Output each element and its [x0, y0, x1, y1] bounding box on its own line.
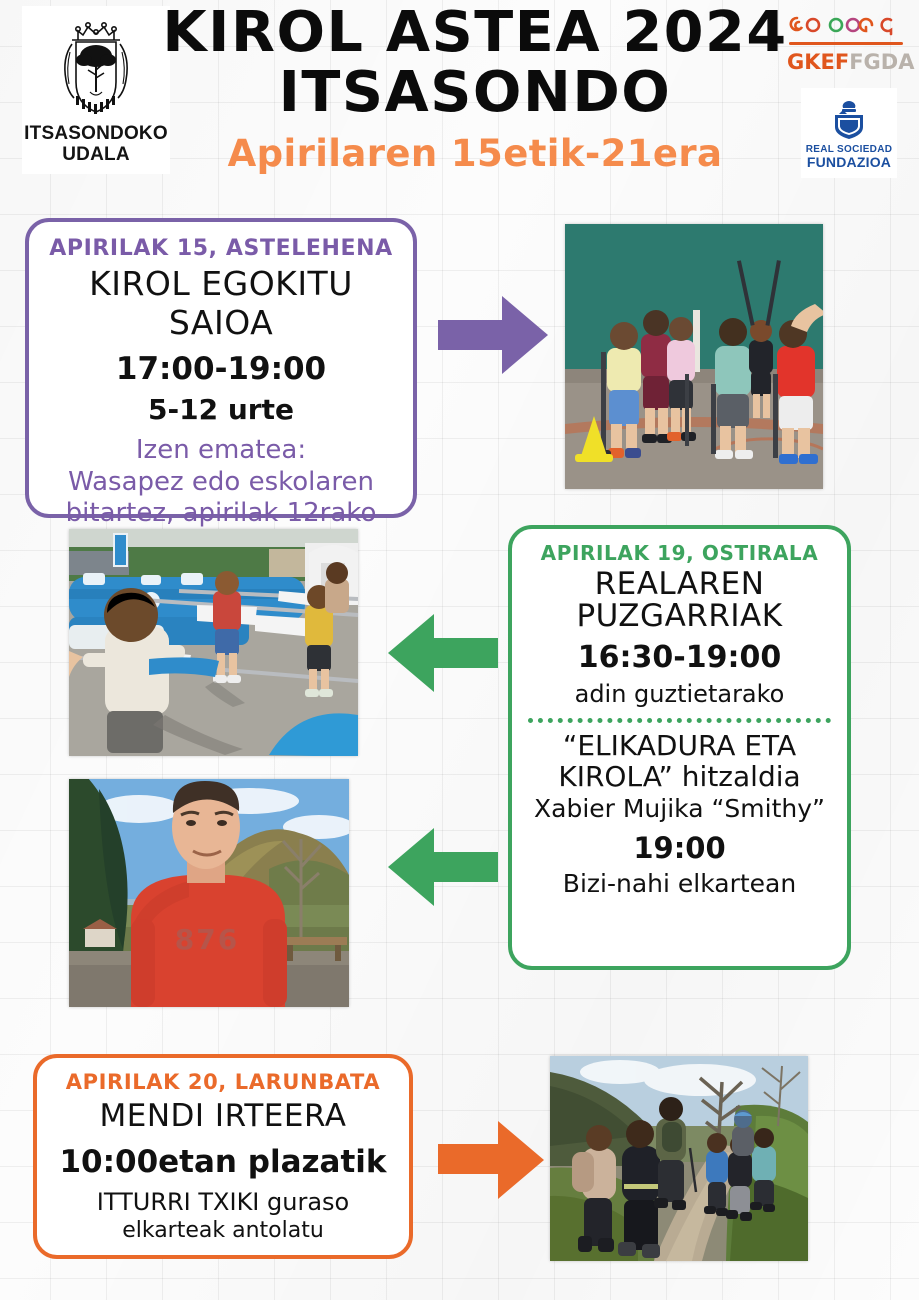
card-friday-divider — [528, 718, 831, 723]
gkef-word-basque: GKEF — [787, 50, 849, 74]
rsf-line2: FUNDAZIOA — [807, 155, 891, 169]
card-saturday-organizer-line1: ITTURRI TXIKI guraso — [47, 1188, 399, 1216]
card-saturday-time: 10:00etan plazatik — [47, 1144, 399, 1180]
page-subtitle: Apirilaren 15etik-21era — [165, 132, 785, 175]
gkef-divider — [789, 42, 903, 45]
card-friday-talk-line1: “ELIKADURA ETA — [522, 731, 837, 761]
real-sociedad-crest-icon — [826, 97, 872, 143]
card-monday-note-line3: bitartez, apirilak 12rako — [41, 498, 401, 530]
card-friday-talk-time: 19:00 — [522, 831, 837, 865]
photo-inflatables — [69, 529, 358, 756]
arrow-friday-inflatables — [385, 608, 500, 698]
card-saturday-day-label: APIRILAK 20, LARUNBATA — [47, 1070, 399, 1094]
crest-label-line1: ITSASONDOKO — [24, 124, 168, 145]
card-monday-activity: KIROL EGOKITU SAIOA — [41, 264, 401, 342]
event-card-monday: APIRILAK 15, ASTELEHENA KIROL EGOKITU SA… — [25, 218, 417, 518]
card-monday-day-label: APIRILAK 15, ASTELEHENA — [41, 236, 401, 261]
card-monday-ages: 5-12 urte — [41, 393, 401, 426]
card-saturday-organizer-line2: elkarteak antolatu — [47, 1218, 399, 1243]
page-title-line1: KIROL ASTEA 2024 — [159, 6, 791, 60]
card-monday-note-line2: Wasapez edo eskolaren — [41, 467, 401, 499]
page-title-line2: ITSASONDO — [159, 66, 791, 120]
arrow-monday — [436, 290, 551, 380]
photo-mountain-walk — [550, 1056, 808, 1261]
gkef-word-spanish: FGDA — [849, 50, 914, 74]
card-friday-activity-line2: PUZGARRIAK — [522, 600, 837, 632]
coat-of-arms-icon — [46, 12, 146, 124]
arrow-saturday — [436, 1116, 546, 1204]
svg-text:876: 876 — [175, 923, 239, 956]
event-card-saturday: APIRILAK 20, LARUNBATA MENDI IRTEERA 10:… — [33, 1054, 413, 1259]
real-sociedad-fundazioa-logo: REAL SOCIEDAD FUNDAZIOA — [801, 88, 897, 178]
photo-adapted-sport — [565, 224, 823, 489]
crest-label-line2: UDALA — [62, 145, 130, 166]
gkef-wordmark: GKEFFGDA — [787, 50, 905, 74]
gkef-fgda-logo: GKEFFGDA — [787, 12, 905, 74]
card-friday-talk-line2: KIROLA” hitzaldia — [522, 762, 837, 792]
card-friday-activity-line1: REALAREN — [522, 568, 837, 600]
card-friday-time: 16:30-19:00 — [522, 640, 837, 675]
card-saturday-activity: MENDI IRTEERA — [47, 1098, 399, 1134]
card-friday-ages: adin guztietarako — [522, 680, 837, 708]
photo-speaker-portrait: 876 — [69, 779, 349, 1007]
itsasondo-town-hall-logo: ITSASONDOKO UDALA — [22, 6, 170, 174]
card-friday-talk-place: Bizi-nahi elkartean — [522, 869, 837, 898]
card-monday-note-line1: Izen ematea: — [41, 435, 401, 467]
event-card-friday: APIRILAK 19, OSTIRALA REALAREN PUZGARRIA… — [508, 525, 851, 970]
card-friday-day-label: APIRILAK 19, OSTIRALA — [522, 541, 837, 565]
arrow-friday-talk — [385, 822, 500, 912]
card-monday-time: 17:00-19:00 — [41, 351, 401, 387]
gkef-swirl-icon — [787, 12, 905, 38]
poster-title-block: KIROL ASTEA 2024 ITSASONDO Apirilaren 15… — [165, 6, 785, 175]
card-friday-speaker: Xabier Mujika “Smithy” — [522, 794, 837, 823]
